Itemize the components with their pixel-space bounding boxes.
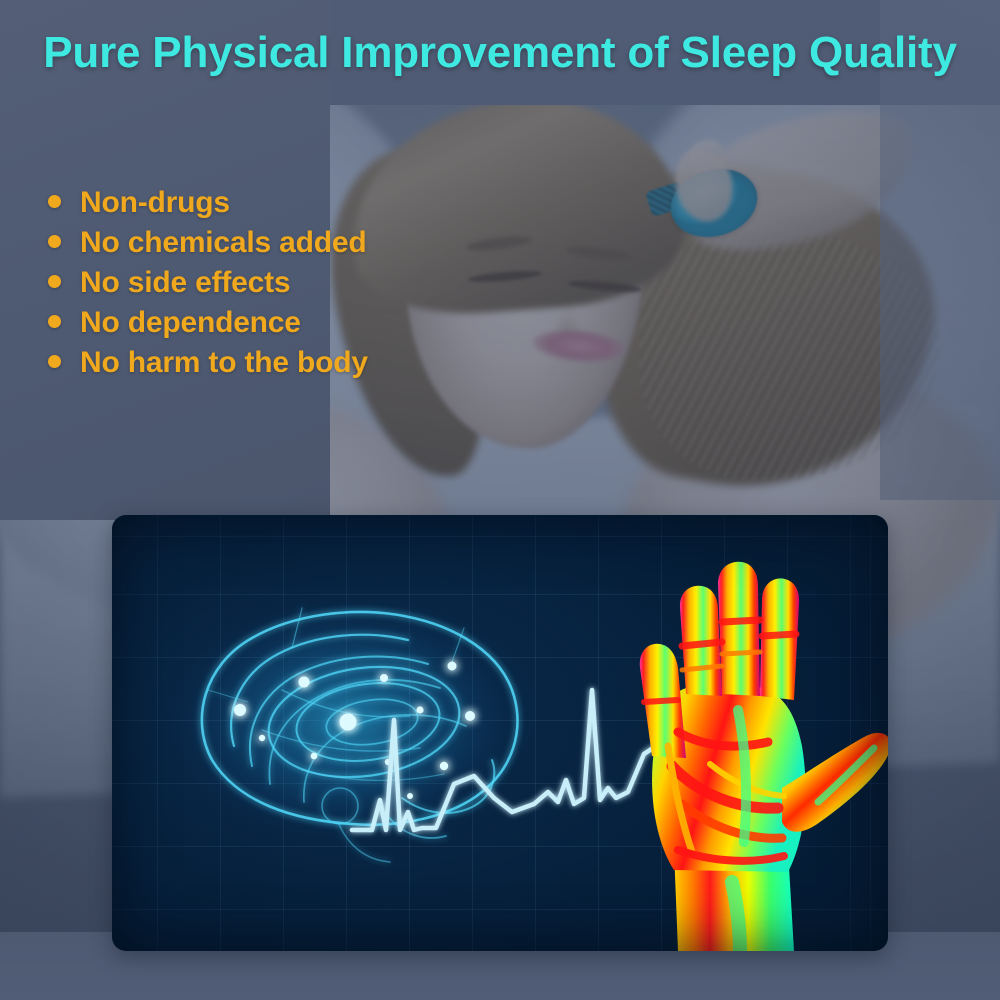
list-item: No harm to the body: [48, 346, 368, 386]
benefits-list: Non-drugs No chemicals added No side eff…: [48, 186, 368, 386]
list-item: Non-drugs: [48, 186, 368, 226]
thermal-hand-image: [582, 550, 888, 951]
list-item: No dependence: [48, 306, 368, 346]
bullet-dot-icon: [48, 275, 61, 288]
benefit-label: No chemicals added: [80, 226, 367, 260]
bullet-dot-icon: [48, 355, 61, 368]
benefit-label: No harm to the body: [80, 346, 368, 380]
page-title: Pure Physical Improvement of Sleep Quali…: [0, 28, 1000, 78]
list-item: No chemicals added: [48, 226, 368, 266]
list-item: No side effects: [48, 266, 368, 306]
benefit-label: No dependence: [80, 306, 301, 340]
promo-banner: Pure Physical Improvement of Sleep Quali…: [0, 0, 1000, 1000]
technology-panel: [112, 515, 888, 951]
bullet-dot-icon: [48, 195, 61, 208]
bullet-dot-icon: [48, 315, 61, 328]
bullet-dot-icon: [48, 235, 61, 248]
benefit-label: Non-drugs: [80, 186, 230, 220]
benefit-label: No side effects: [80, 266, 290, 300]
